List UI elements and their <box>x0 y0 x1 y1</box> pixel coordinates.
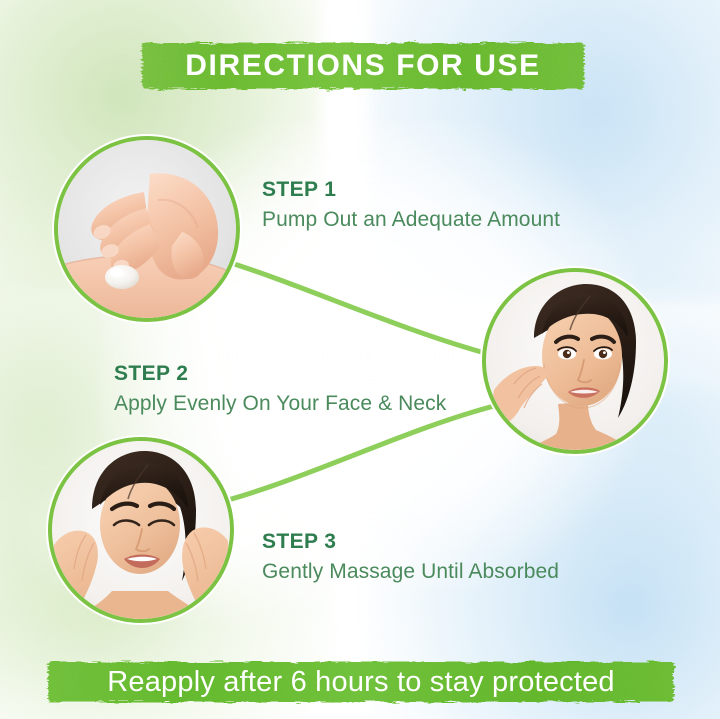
step-1-text-block: STEP 1 Pump Out an Adequate Amount <box>262 178 560 232</box>
step-2-image <box>486 272 664 450</box>
woman-applying-cream-to-cheek-icon <box>486 272 664 450</box>
step-2-description: Apply Evenly On Your Face & Neck <box>114 391 446 416</box>
step-3-photo-frame <box>52 441 230 619</box>
step-3-description: Gently Massage Until Absorbed <box>262 559 559 584</box>
directions-for-use-poster: DIRECTIONS FOR USE <box>0 0 720 719</box>
hand-dispensing-cream-icon <box>58 140 236 318</box>
step-3-text-block: STEP 3 Gently Massage Until Absorbed <box>262 530 559 584</box>
step-3-image <box>52 441 230 619</box>
step-3-label: STEP 3 <box>262 530 559 554</box>
step-1-description: Pump Out an Adequate Amount <box>262 207 560 232</box>
header-title: DIRECTIONS FOR USE <box>185 49 541 83</box>
step-1-image <box>58 140 236 318</box>
step-2-text-block: STEP 2 Apply Evenly On Your Face & Neck <box>114 362 446 416</box>
header-banner: DIRECTIONS FOR USE <box>138 38 588 94</box>
step-1-label: STEP 1 <box>262 178 560 202</box>
step-2-photo-frame <box>486 272 664 450</box>
footer-banner: Reapply after 6 hours to stay protected <box>44 657 678 707</box>
step-2-label: STEP 2 <box>114 362 446 386</box>
footer-text: Reapply after 6 hours to stay protected <box>107 666 615 699</box>
connector-step3-to-step2 <box>196 405 498 508</box>
step-1-photo-frame <box>58 140 236 318</box>
woman-massaging-face-icon <box>52 441 230 619</box>
connector-step1-to-step2 <box>228 262 492 355</box>
